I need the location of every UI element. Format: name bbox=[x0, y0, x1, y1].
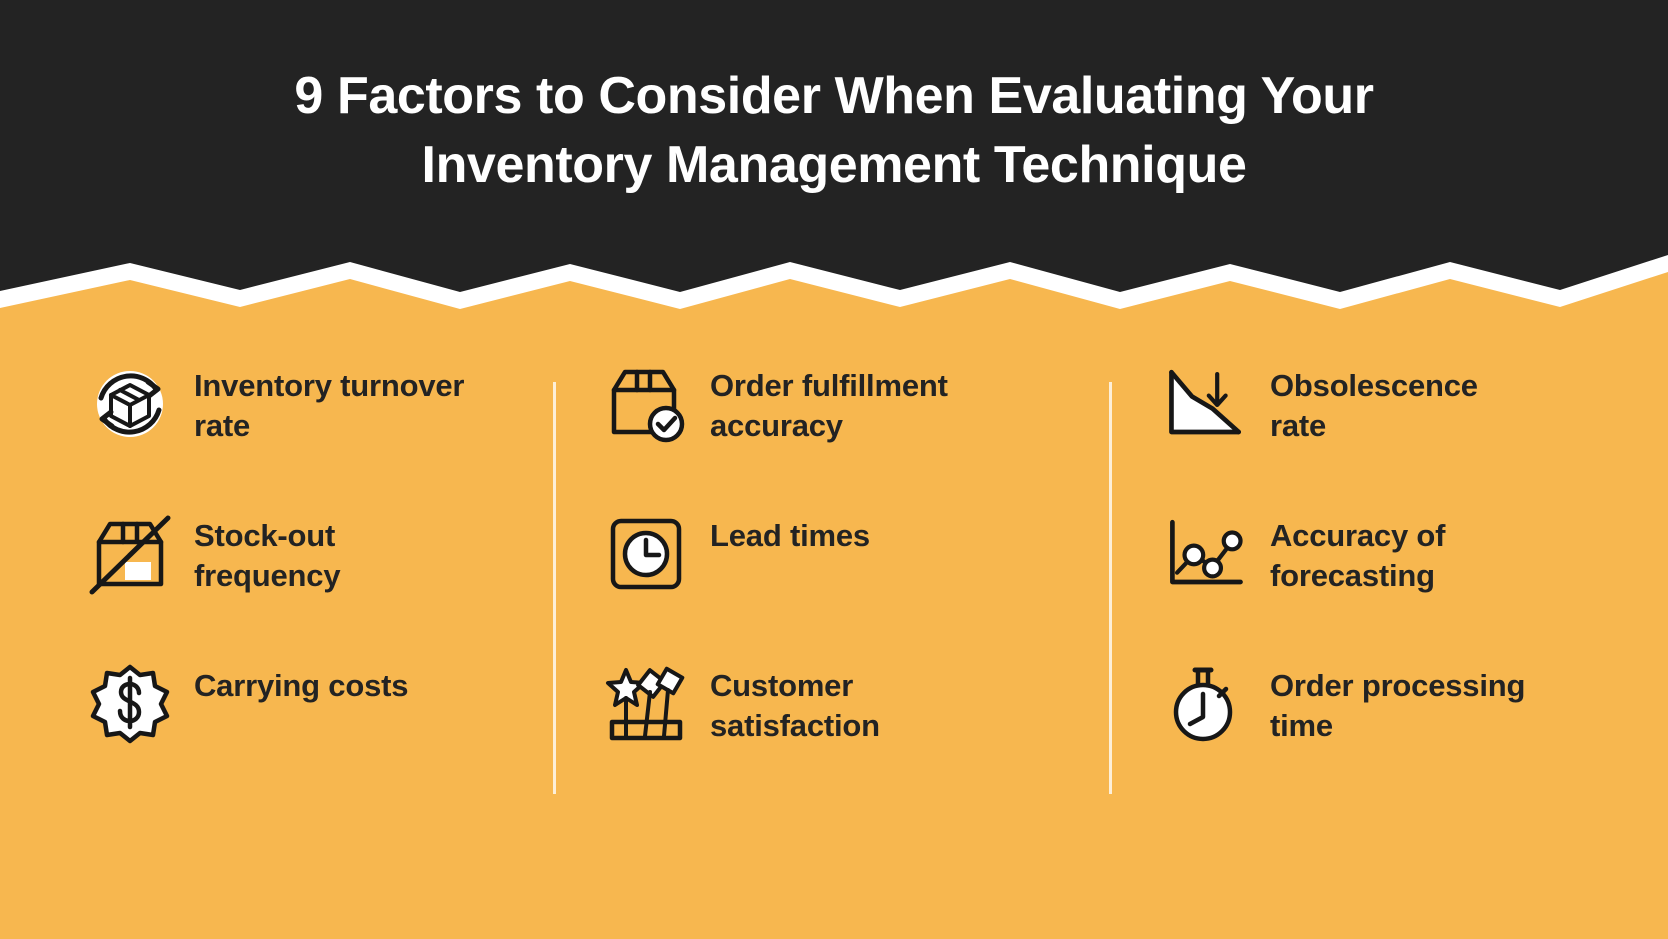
factor-label: Accuracy of forecasting bbox=[1270, 510, 1538, 597]
factor-label: Order processing time bbox=[1270, 660, 1538, 747]
clock-square-icon bbox=[604, 512, 688, 596]
declining-chart-arrow-down-icon bbox=[1164, 362, 1248, 446]
infographic-page: 9 Factors to Consider When Evaluating Yo… bbox=[0, 0, 1668, 939]
stopwatch-icon bbox=[1164, 662, 1248, 746]
title-line-1: 9 Factors to Consider When Evaluating Yo… bbox=[294, 67, 1373, 125]
factor-item: Obsolescence rate bbox=[1164, 360, 1648, 510]
factor-label: Lead times bbox=[710, 510, 870, 556]
factor-item: Carrying costs bbox=[88, 660, 536, 810]
factor-item: Lead times bbox=[604, 510, 1092, 660]
box-crossed-out-icon bbox=[88, 512, 172, 596]
factor-label: Carrying costs bbox=[194, 660, 408, 706]
factor-item: Accuracy of forecasting bbox=[1164, 510, 1648, 660]
factors-column-2: Order fulfillment accuracy Lead times bbox=[556, 360, 1112, 830]
factor-item: Customer satisfaction bbox=[604, 660, 1092, 810]
factors-grid: Inventory turnover rate S bbox=[0, 360, 1668, 830]
factor-label: Stock-out frequency bbox=[194, 510, 484, 597]
factor-label: Obsolescence rate bbox=[1270, 360, 1538, 447]
factor-label: Customer satisfaction bbox=[710, 660, 1000, 747]
factor-item: Inventory turnover rate bbox=[88, 360, 536, 510]
page-title: 9 Factors to Consider When Evaluating Yo… bbox=[0, 62, 1668, 199]
dollar-badge-icon bbox=[88, 662, 172, 746]
line-chart-nodes-icon bbox=[1164, 512, 1248, 596]
factor-label: Inventory turnover rate bbox=[194, 360, 484, 447]
factors-column-3: Obsolescence rate Accuracy of forecastin… bbox=[1112, 360, 1668, 830]
factor-item: Order processing time bbox=[1164, 660, 1648, 810]
factors-column-1: Inventory turnover rate S bbox=[0, 360, 556, 830]
box-refresh-cycle-icon bbox=[88, 362, 172, 446]
title-line-2: Inventory Management Technique bbox=[180, 131, 1488, 200]
factor-label: Order fulfillment accuracy bbox=[710, 360, 1000, 447]
factor-item: Order fulfillment accuracy bbox=[604, 360, 1092, 510]
box-check-icon bbox=[604, 362, 688, 446]
star-rating-icon bbox=[604, 662, 688, 746]
factor-item: Stock-out frequency bbox=[88, 510, 536, 660]
